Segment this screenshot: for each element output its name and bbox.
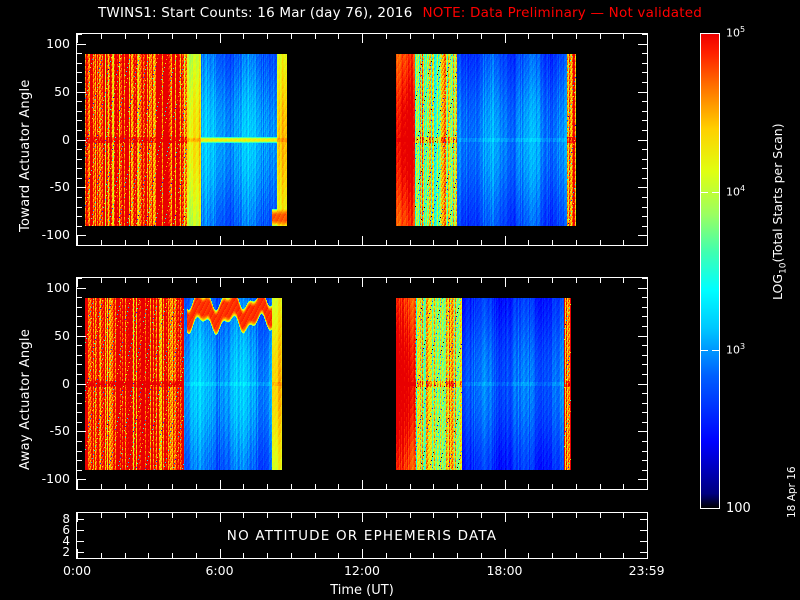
- colorbar-tick: [712, 192, 719, 193]
- xtick-bottom: [362, 236, 363, 245]
- ytick-right: [642, 374, 647, 375]
- xtick-bottom: [125, 240, 126, 245]
- colorbar-title-sub: 10: [779, 263, 789, 274]
- xtick-bottom: [481, 484, 482, 489]
- ytick-right: [638, 235, 647, 236]
- xtick-top: [528, 34, 529, 39]
- ytick-right: [642, 82, 647, 83]
- ytick-right: [638, 384, 647, 385]
- ytick-left: [77, 297, 82, 298]
- no-attitude-message: NO ATTITUDE OR EPHEMERIS DATA: [77, 528, 647, 544]
- colorbar-title-suffix: (Total Starts per Scan): [770, 123, 785, 262]
- ytick-left: [77, 326, 82, 327]
- ytick-right: [642, 207, 647, 208]
- xtick-top: [362, 278, 363, 287]
- xtick-top: [576, 278, 577, 283]
- xtick-bottom: [101, 553, 102, 558]
- xtick-top: [77, 278, 78, 287]
- ytick-left: [77, 197, 82, 198]
- xtick-bottom: [457, 553, 458, 558]
- xtick-bottom: [386, 484, 387, 489]
- ytick-left: [77, 451, 82, 452]
- ytick-label: 100: [0, 36, 70, 51]
- ytick-right: [640, 519, 647, 520]
- plot-root: TWINS1: Start Counts: 16 Mar (day 76), 2…: [0, 0, 800, 600]
- xtick-top: [77, 513, 78, 522]
- xtick-bottom: [220, 549, 221, 558]
- page-title: TWINS1: Start Counts: 16 Mar (day 76), 2…: [0, 5, 800, 21]
- xtick-top: [101, 34, 102, 39]
- cb-exp: 5: [740, 25, 745, 34]
- xtick-bottom: [528, 553, 529, 558]
- xtick-top: [315, 34, 316, 39]
- xtick-top: [552, 34, 553, 39]
- ytick-left: [77, 140, 86, 141]
- xtick-bottom: [457, 240, 458, 245]
- xtick-bottom: [552, 484, 553, 489]
- ytick-right: [642, 63, 647, 64]
- xtick-bottom: [338, 240, 339, 245]
- xtick-top: [433, 513, 434, 518]
- xtick-top: [386, 278, 387, 283]
- ytick-label: 50: [0, 328, 70, 343]
- xtick-bottom: [315, 240, 316, 245]
- xtick-label: 12:00: [322, 563, 402, 578]
- ytick-left: [77, 149, 82, 150]
- xtick-bottom: [600, 484, 601, 489]
- ytick-label: 50: [0, 84, 70, 99]
- cb-base: 10: [726, 27, 740, 40]
- xtick-bottom: [196, 484, 197, 489]
- xtick-bottom: [267, 240, 268, 245]
- ytick-right: [642, 111, 647, 112]
- xtick-bottom: [243, 240, 244, 245]
- xtick-top: [481, 34, 482, 39]
- xtick-top: [148, 34, 149, 39]
- xlabel-time: Time (UT): [76, 583, 648, 598]
- ytick-left: [77, 53, 82, 54]
- xtick-bottom: [291, 553, 292, 558]
- xtick-bottom: [148, 240, 149, 245]
- ytick-left: [77, 431, 86, 432]
- ytick-left: [77, 207, 82, 208]
- xtick-top: [552, 513, 553, 518]
- xtick-bottom: [101, 484, 102, 489]
- xtick-top: [457, 34, 458, 39]
- ytick-right: [642, 470, 647, 471]
- ytick-left: [77, 168, 82, 169]
- xtick-label: 0:00: [37, 563, 117, 578]
- xtick-top: [267, 513, 268, 518]
- ytick-right: [642, 168, 647, 169]
- ytick-left: [77, 470, 82, 471]
- ytick-right: [642, 72, 647, 73]
- xtick-bottom: [172, 240, 173, 245]
- ytick-left: [77, 316, 82, 317]
- xtick-bottom: [220, 480, 221, 489]
- xtick-top: [172, 513, 173, 518]
- ytick-right: [638, 431, 647, 432]
- xtick-bottom: [196, 553, 197, 558]
- ytick-label: 0: [0, 376, 70, 391]
- cb-exp: 3: [740, 342, 745, 351]
- colorbar-tick-label: 104: [726, 185, 745, 198]
- xtick-top: [172, 34, 173, 39]
- xtick-top: [576, 34, 577, 39]
- xtick-top: [338, 34, 339, 39]
- xtick-bottom: [315, 484, 316, 489]
- ylabel-toward: Toward Actuator Angle: [18, 79, 33, 232]
- title-note-text: NOTE: Data Preliminary — Not validated: [423, 5, 703, 21]
- ytick-right: [638, 44, 647, 45]
- ytick-left: [77, 130, 82, 131]
- xtick-bottom: [481, 553, 482, 558]
- ytick-left: [77, 226, 82, 227]
- xtick-bottom: [77, 549, 78, 558]
- xtick-bottom: [623, 553, 624, 558]
- xtick-bottom: [505, 236, 506, 245]
- xtick-bottom: [576, 553, 577, 558]
- ytick-label: -50: [0, 179, 70, 194]
- xtick-bottom: [362, 480, 363, 489]
- xtick-bottom: [481, 240, 482, 245]
- ytick-left: [77, 519, 84, 520]
- xtick-bottom: [505, 549, 506, 558]
- xtick-top: [125, 34, 126, 39]
- xtick-bottom: [410, 553, 411, 558]
- xtick-label: 18:00: [465, 563, 545, 578]
- xtick-top: [196, 34, 197, 39]
- ytick-left: [77, 288, 86, 289]
- ytick-right: [642, 226, 647, 227]
- xtick-top: [505, 513, 506, 522]
- xtick-top: [410, 34, 411, 39]
- xtick-bottom: [433, 553, 434, 558]
- ytick-left: [77, 530, 84, 531]
- colorbar: [700, 33, 720, 509]
- ytick-right: [642, 53, 647, 54]
- ytick-left: [77, 552, 84, 553]
- cb-base: 10: [726, 344, 740, 357]
- xtick-top: [457, 513, 458, 518]
- ytick-left: [77, 345, 82, 346]
- xtick-bottom: [576, 240, 577, 245]
- xtick-bottom: [291, 484, 292, 489]
- ytick-right: [640, 541, 647, 542]
- ytick-label: 100: [0, 280, 70, 295]
- ytick-right: [642, 178, 647, 179]
- ytick-left: [77, 374, 82, 375]
- ytick-left: [77, 187, 86, 188]
- xtick-top: [243, 34, 244, 39]
- ytick-right: [642, 422, 647, 423]
- ytick-right: [642, 403, 647, 404]
- ytick-label: -100: [0, 227, 70, 242]
- xtick-bottom: [386, 240, 387, 245]
- ytick-left: [77, 355, 82, 356]
- xtick-top: [481, 513, 482, 518]
- xtick-label: 6:00: [180, 563, 260, 578]
- xtick-label: 23:59: [607, 563, 687, 578]
- xtick-top: [125, 278, 126, 283]
- ytick-right: [642, 316, 647, 317]
- cb-exp: 4: [740, 184, 745, 193]
- colorbar-tick-label: 100: [726, 502, 751, 515]
- xtick-bottom: [410, 240, 411, 245]
- ytick-left: [77, 541, 84, 542]
- xtick-top: [623, 513, 624, 518]
- xtick-bottom: [243, 553, 244, 558]
- xtick-top: [386, 513, 387, 518]
- xtick-bottom: [338, 553, 339, 558]
- ytick-right: [638, 479, 647, 480]
- ytick-left: [77, 216, 82, 217]
- xtick-bottom: [552, 553, 553, 558]
- xtick-bottom: [623, 484, 624, 489]
- ytick-left: [77, 336, 86, 337]
- title-main-text: TWINS1: Start Counts: 16 Mar (day 76), 2…: [98, 5, 413, 21]
- ytick-right: [640, 530, 647, 531]
- xtick-top: [576, 513, 577, 518]
- xtick-bottom: [267, 553, 268, 558]
- ytick-left: [77, 63, 82, 64]
- panel-toward-actuator: [76, 33, 648, 246]
- ylabel-away: Away Actuator Angle: [18, 329, 33, 470]
- ytick-right: [642, 130, 647, 131]
- colorbar-tick: [701, 192, 708, 193]
- ytick-right: [638, 336, 647, 337]
- xtick-bottom: [338, 484, 339, 489]
- ytick-right: [642, 34, 647, 35]
- ytick-right: [638, 92, 647, 93]
- colorbar-title-prefix: LOG: [770, 274, 785, 300]
- ytick-left: [77, 44, 86, 45]
- xtick-bottom: [77, 236, 78, 245]
- ytick-right: [642, 345, 647, 346]
- xtick-top: [433, 278, 434, 283]
- xtick-bottom: [552, 240, 553, 245]
- ytick-right: [642, 364, 647, 365]
- xtick-top: [552, 278, 553, 283]
- xtick-top: [528, 513, 529, 518]
- xtick-top: [77, 34, 78, 43]
- xtick-bottom: [148, 553, 149, 558]
- xtick-top: [291, 34, 292, 39]
- colorbar-tick: [701, 350, 708, 351]
- xtick-top: [220, 34, 221, 43]
- ytick-right: [642, 412, 647, 413]
- xtick-top: [623, 34, 624, 39]
- colorbar-tick-label: 105: [726, 26, 745, 39]
- xtick-bottom: [528, 484, 529, 489]
- ytick-right: [642, 393, 647, 394]
- xtick-top: [148, 278, 149, 283]
- xtick-top: [291, 278, 292, 283]
- ytick-right: [642, 307, 647, 308]
- xtick-top: [291, 513, 292, 518]
- ytick-left: [77, 460, 82, 461]
- ytick-right: [642, 159, 647, 160]
- panel-away-actuator: [76, 277, 648, 490]
- cb-base: 10: [726, 186, 740, 199]
- xtick-bottom: [220, 236, 221, 245]
- xtick-top: [172, 278, 173, 283]
- xtick-top: [243, 513, 244, 518]
- xtick-bottom: [291, 240, 292, 245]
- ytick-left: [77, 422, 82, 423]
- xtick-bottom: [315, 553, 316, 558]
- ytick-left: [77, 34, 82, 35]
- ytick-label: 2: [0, 545, 70, 559]
- ytick-right: [642, 101, 647, 102]
- ytick-left: [77, 178, 82, 179]
- ytick-left: [77, 384, 86, 385]
- ytick-right: [638, 140, 647, 141]
- xtick-bottom: [101, 240, 102, 245]
- xtick-top: [101, 513, 102, 518]
- colorbar-tick-label: 103: [726, 343, 745, 356]
- xtick-top: [220, 278, 221, 287]
- ytick-right: [642, 355, 647, 356]
- xtick-bottom: [457, 484, 458, 489]
- xtick-bottom: [148, 484, 149, 489]
- ytick-left: [77, 92, 86, 93]
- xtick-top: [267, 34, 268, 39]
- ytick-left: [77, 403, 82, 404]
- xtick-top: [338, 513, 339, 518]
- ytick-right: [642, 441, 647, 442]
- xtick-top: [315, 513, 316, 518]
- ytick-left: [77, 393, 82, 394]
- xtick-bottom: [623, 240, 624, 245]
- ytick-left: [77, 159, 82, 160]
- xtick-top: [362, 513, 363, 522]
- xtick-bottom: [600, 240, 601, 245]
- xtick-top: [267, 278, 268, 283]
- ytick-label: -100: [0, 471, 70, 486]
- ytick-left: [77, 278, 82, 279]
- xtick-bottom: [600, 553, 601, 558]
- ytick-right: [642, 278, 647, 279]
- xtick-bottom: [172, 553, 173, 558]
- ytick-left: [77, 441, 82, 442]
- ytick-label: 0: [0, 132, 70, 147]
- ytick-right: [642, 149, 647, 150]
- ytick-right: [638, 288, 647, 289]
- xtick-bottom: [243, 484, 244, 489]
- xtick-top: [505, 278, 506, 287]
- xtick-bottom: [433, 484, 434, 489]
- xtick-top: [196, 513, 197, 518]
- xtick-bottom: [386, 553, 387, 558]
- xtick-bottom: [172, 484, 173, 489]
- xtick-top: [338, 278, 339, 283]
- xtick-bottom: [267, 484, 268, 489]
- ytick-left: [77, 72, 82, 73]
- xtick-top: [600, 513, 601, 518]
- xtick-bottom: [362, 549, 363, 558]
- ytick-right: [642, 216, 647, 217]
- xtick-bottom: [125, 484, 126, 489]
- xtick-top: [623, 278, 624, 283]
- xtick-top: [220, 513, 221, 522]
- xtick-top: [410, 278, 411, 283]
- ytick-right: [642, 197, 647, 198]
- ytick-right: [642, 326, 647, 327]
- ytick-right: [642, 451, 647, 452]
- spectrogram-toward: [77, 34, 647, 245]
- xtick-top: [600, 34, 601, 39]
- xtick-top: [457, 278, 458, 283]
- ytick-left: [77, 364, 82, 365]
- ytick-left: [77, 479, 86, 480]
- xtick-top: [315, 278, 316, 283]
- ytick-label: -50: [0, 423, 70, 438]
- xtick-top: [481, 278, 482, 283]
- xtick-bottom: [77, 480, 78, 489]
- ytick-left: [77, 120, 82, 121]
- xtick-top: [505, 34, 506, 43]
- xtick-top: [243, 278, 244, 283]
- spectrogram-away: [77, 278, 647, 489]
- xtick-bottom: [410, 484, 411, 489]
- ytick-right: [642, 120, 647, 121]
- xtick-bottom: [576, 484, 577, 489]
- ytick-left: [77, 101, 82, 102]
- ytick-left: [77, 307, 82, 308]
- ytick-left: [77, 111, 82, 112]
- xtick-bottom: [196, 240, 197, 245]
- xtick-top: [148, 513, 149, 518]
- xtick-top: [362, 34, 363, 43]
- datestamp: 18 Apr 16: [786, 466, 798, 518]
- ytick-right: [642, 460, 647, 461]
- xtick-top: [196, 278, 197, 283]
- xtick-bottom: [125, 553, 126, 558]
- xtick-top: [410, 513, 411, 518]
- ytick-left: [77, 235, 86, 236]
- xtick-top: [528, 278, 529, 283]
- ytick-right: [638, 187, 647, 188]
- ytick-right: [640, 552, 647, 553]
- xtick-bottom: [505, 480, 506, 489]
- ytick-right: [642, 297, 647, 298]
- colorbar-axis-title: LOG10(Total Starts per Scan): [770, 123, 789, 300]
- xtick-top: [101, 278, 102, 283]
- xtick-top: [433, 34, 434, 39]
- xtick-bottom: [528, 240, 529, 245]
- xtick-top: [125, 513, 126, 518]
- colorbar-tick: [712, 350, 719, 351]
- ytick-left: [77, 82, 82, 83]
- ytick-left: [77, 412, 82, 413]
- xtick-top: [600, 278, 601, 283]
- xtick-top: [386, 34, 387, 39]
- xtick-bottom: [433, 240, 434, 245]
